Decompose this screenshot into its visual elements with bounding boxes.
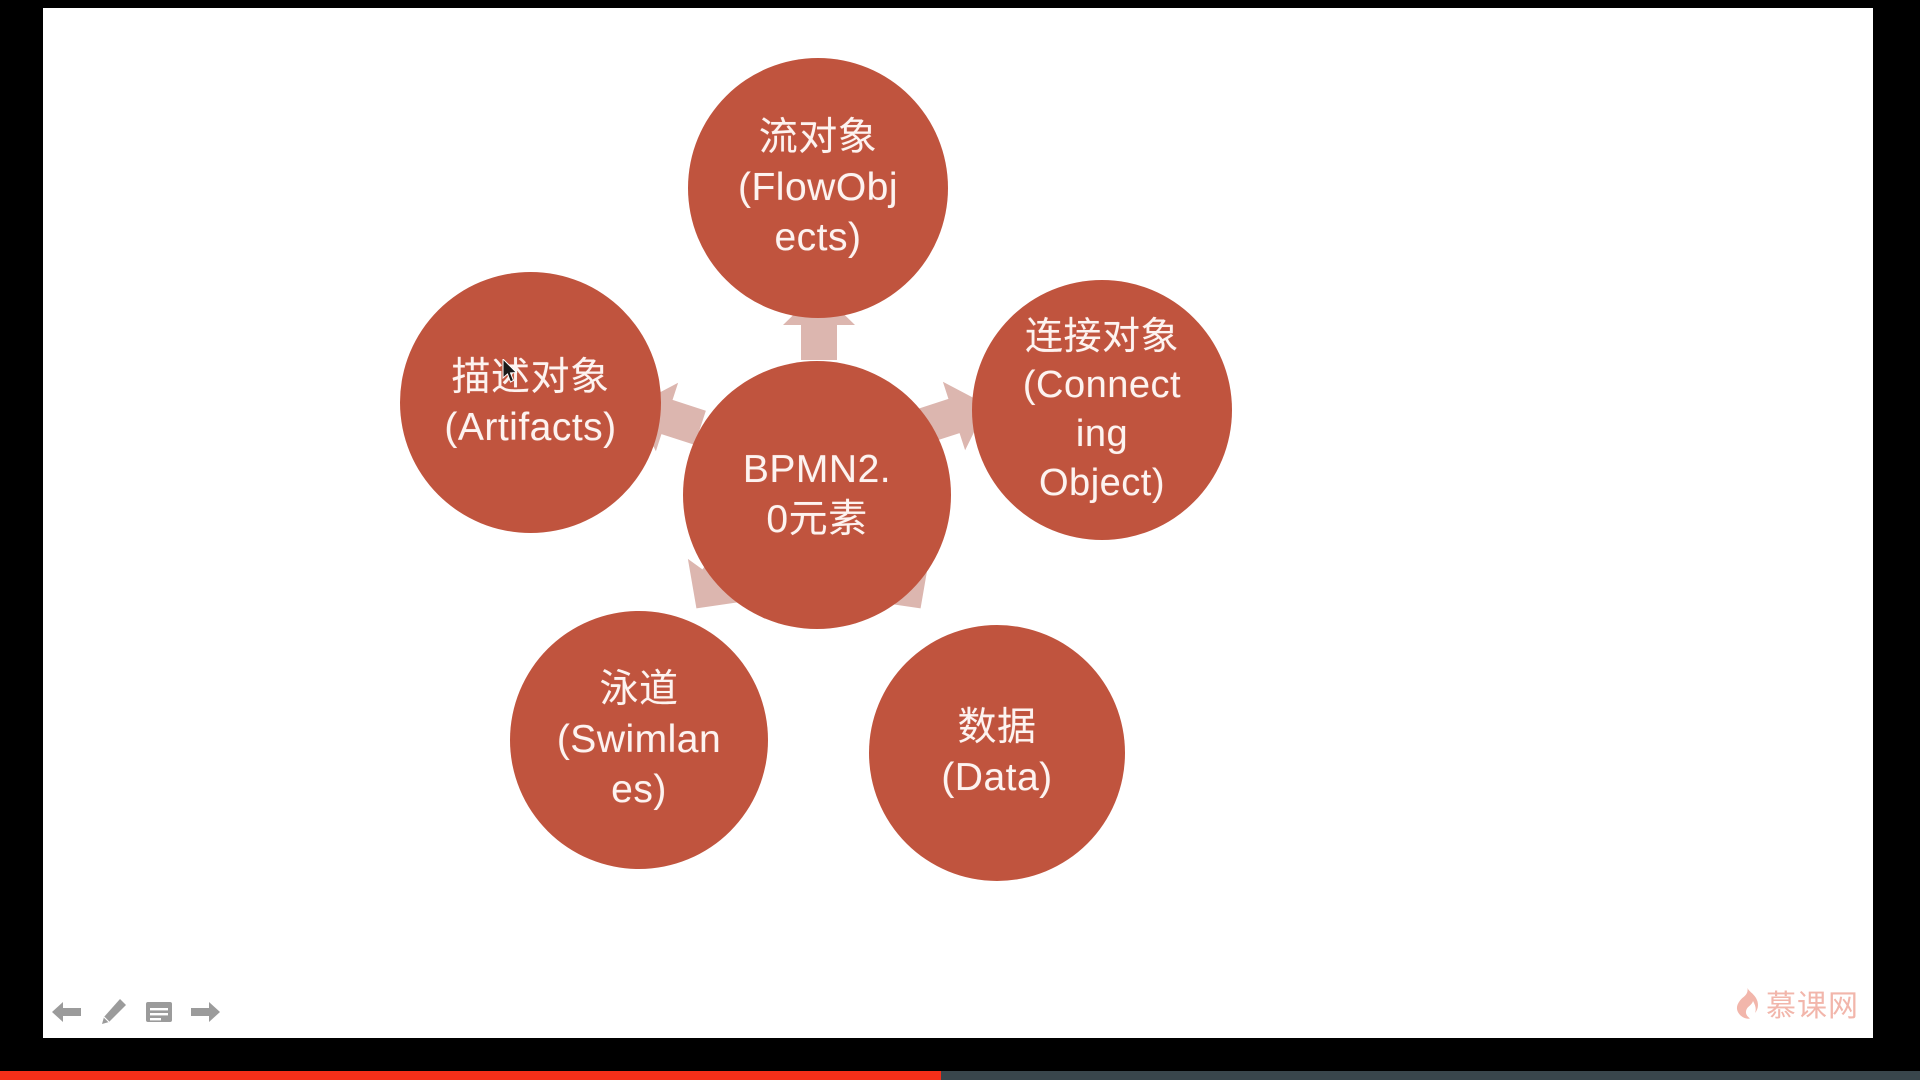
node-data-line-2: (Data) bbox=[941, 753, 1052, 803]
node-flow-objects-line-1: 流对象 bbox=[759, 113, 878, 163]
node-artifacts-line-1: 描述对象 bbox=[451, 353, 609, 403]
slide-toolbar bbox=[47, 996, 221, 1028]
slide-canvas: 流对象 (FlowObj ects) 连接对象 (Connect ing Obj… bbox=[43, 8, 1873, 1038]
imooc-watermark: 慕课网 bbox=[1732, 987, 1859, 1026]
previous-slide-button[interactable] bbox=[51, 996, 83, 1028]
pen-tool-button[interactable] bbox=[97, 996, 129, 1028]
node-data: 数据 (Data) bbox=[869, 625, 1125, 881]
node-flow-objects: 流对象 (FlowObj ects) bbox=[688, 58, 948, 318]
progress-bar-fill bbox=[0, 1071, 941, 1080]
notes-icon bbox=[145, 1000, 173, 1024]
next-slide-button[interactable] bbox=[189, 996, 221, 1028]
node-bpmn-center-line-2: 0元素 bbox=[766, 495, 867, 545]
progress-bar-track[interactable] bbox=[0, 1071, 1920, 1080]
pencil-icon bbox=[99, 998, 127, 1026]
node-flow-objects-line-3: ects) bbox=[774, 213, 861, 263]
node-bpmn-center-line-1: BPMN2. bbox=[743, 445, 891, 495]
video-player-viewport: 流对象 (FlowObj ects) 连接对象 (Connect ing Obj… bbox=[0, 0, 1920, 1080]
node-connecting-object-line-1: 连接对象 bbox=[1025, 313, 1179, 362]
node-swimlanes-line-3: es) bbox=[611, 765, 667, 815]
notes-button[interactable] bbox=[143, 996, 175, 1028]
node-data-line-1: 数据 bbox=[957, 703, 1036, 753]
node-connecting-object: 连接对象 (Connect ing Object) bbox=[972, 280, 1232, 540]
node-swimlanes-line-1: 泳道 bbox=[599, 665, 678, 715]
node-connecting-object-line-4: Object) bbox=[1039, 459, 1165, 508]
node-artifacts-line-2: (Artifacts) bbox=[444, 403, 616, 453]
imooc-watermark-text: 慕课网 bbox=[1766, 992, 1859, 1022]
node-artifacts: 描述对象 (Artifacts) bbox=[400, 272, 661, 533]
node-swimlanes: 泳道 (Swimlan es) bbox=[510, 611, 768, 869]
flame-icon bbox=[1732, 987, 1760, 1026]
arrow-right-icon bbox=[190, 1000, 220, 1024]
arrow-left-icon bbox=[52, 1000, 82, 1024]
node-swimlanes-line-2: (Swimlan bbox=[557, 715, 721, 765]
node-connecting-object-line-3: ing bbox=[1076, 410, 1128, 459]
node-bpmn-center: BPMN2. 0元素 bbox=[683, 361, 951, 629]
node-connecting-object-line-2: (Connect bbox=[1023, 361, 1181, 410]
node-flow-objects-line-2: (FlowObj bbox=[738, 163, 898, 213]
